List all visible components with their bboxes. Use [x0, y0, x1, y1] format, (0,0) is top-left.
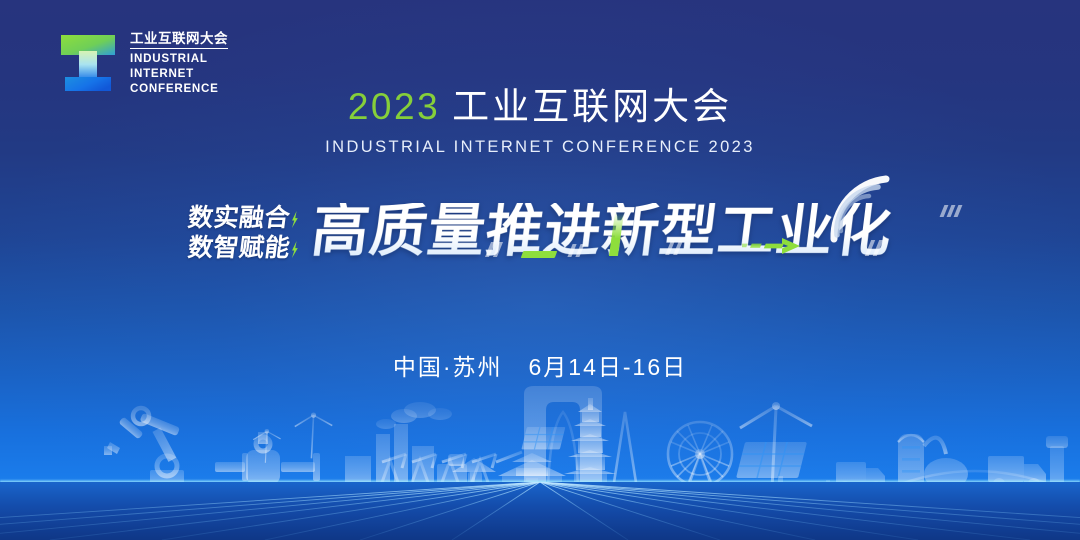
traditional-hall-icon: [498, 453, 566, 490]
slogan-small-line-2: 数智赋能: [186, 236, 300, 261]
horizon-line: [0, 483, 1080, 486]
event-meta: 中国·苏州6月14日-16日: [0, 348, 1080, 382]
title-block: 2023工业互联网大会 INDUSTRIAL INTERNET CONFEREN…: [0, 88, 1080, 157]
event-title: 2023工业互联网大会: [0, 88, 1080, 125]
pipeline-valve-icon: [215, 432, 320, 484]
event-title-cn: 工业互联网大会: [452, 86, 732, 127]
wind-turbines-icon: [253, 366, 812, 489]
event-location: 中国·苏州: [393, 354, 503, 380]
headline-inner: 数实融合 数智赋能 高质量推进新型工业化: [188, 203, 892, 260]
storage-tanks-icon: [898, 434, 969, 490]
trucks-icon-2: [836, 462, 885, 491]
slogan-small-line-1: 数实融合: [186, 206, 300, 231]
lightning-bolt-icon: [290, 241, 300, 258]
tv-tower-base: [608, 484, 642, 490]
bridge-icon: [880, 442, 1070, 488]
conference-banner: 工业互联网大会 INDUSTRIAL INTERNET CONFERENCE 2…: [0, 0, 1080, 540]
logo-en-line1: INDUSTRIAL: [130, 52, 228, 67]
speed-slash-icon: [940, 205, 948, 217]
gate-of-the-orient-icon: [524, 386, 602, 489]
oil-pumpjacks-icon-2: [496, 452, 522, 488]
headline: 数实融合 数智赋能 高质量推进新型工业化: [0, 176, 1080, 286]
perspective-grid-floor: [0, 482, 1080, 540]
lightning-bolt-icon: [290, 211, 300, 228]
industrial-internet-conference-logo-icon: [57, 31, 119, 95]
pavilion-icon: [452, 458, 496, 489]
robot-arm-icon: [104, 408, 184, 488]
oil-pumpjacks-icon: [380, 454, 496, 488]
event-year: 2023: [348, 86, 440, 127]
logo-lockup[interactable]: 工业互联网大会 INDUSTRIAL INTERNET CONFERENCE: [57, 29, 228, 96]
solar-panels-icon: [521, 427, 839, 490]
factory-smokestacks-icon: [345, 402, 482, 495]
pagoda-icon: [564, 398, 616, 489]
slogan-small-block: 数实融合 数智赋能: [188, 206, 299, 261]
slogan-small-text-2: 数智赋能: [186, 234, 291, 262]
ferris-wheel-icon: [668, 422, 732, 489]
green-bar-accent: [521, 251, 558, 258]
slogan-main: 高质量推进新型工业化: [309, 203, 896, 260]
tv-tower-icon: [613, 394, 637, 489]
logo-text-block: 工业互联网大会 INDUSTRIAL INTERNET CONFERENCE: [130, 29, 228, 96]
speed-slash-icon: [947, 205, 955, 217]
horizon-glow: [0, 479, 1080, 488]
event-title-en: INDUSTRIAL INTERNET CONFERENCE 2023: [0, 138, 1080, 157]
event-dates: 6月14日-16日: [529, 354, 688, 380]
logo-cn-name: 工业互联网大会: [130, 31, 228, 49]
logo-en-line2: INTERNET: [130, 67, 228, 82]
speed-slash-icon: [954, 205, 962, 217]
slogan-small-text-1: 数实融合: [186, 204, 291, 232]
trucks-icon: [988, 436, 1068, 490]
